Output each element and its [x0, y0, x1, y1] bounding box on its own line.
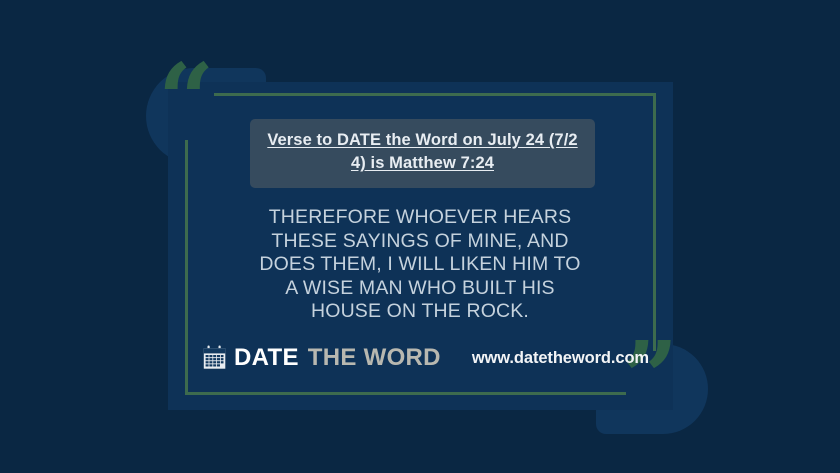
- verse-body: THEREFORE WHOEVER HEARS THESE SAYINGS OF…: [190, 206, 650, 324]
- calendar-icon: [203, 345, 229, 372]
- open-quote-icon: “: [158, 52, 214, 150]
- frame-border-right: [653, 93, 656, 351]
- verse-line: A WISE MAN WHO BUILT HIS: [190, 277, 650, 301]
- brand-name-primary: DATE: [234, 344, 299, 372]
- brand-footer: DATE THE WORD www.datetheword.com: [203, 344, 649, 372]
- verse-line: THEREFORE WHOEVER HEARS: [190, 206, 650, 230]
- website-url[interactable]: www.datetheword.com: [472, 349, 649, 368]
- brand-name-secondary: THE WORD: [308, 344, 441, 372]
- verse-title: Verse to DATE the Word on July 24 (7/24)…: [267, 131, 577, 172]
- verse-line: HOUSE ON THE ROCK.: [190, 300, 650, 324]
- verse-line: THESE SAYINGS OF MINE, AND: [190, 230, 650, 254]
- frame-border-left: [185, 140, 188, 395]
- verse-title-box: Verse to DATE the Word on July 24 (7/24)…: [250, 119, 595, 188]
- verse-graphic: “ ” Verse to DATE the Word on July 24 (7…: [0, 0, 840, 473]
- frame-border-top: [214, 93, 656, 96]
- verse-line: DOES THEM, I WILL LIKEN HIM TO: [190, 253, 650, 277]
- frame-border-bottom: [185, 392, 626, 395]
